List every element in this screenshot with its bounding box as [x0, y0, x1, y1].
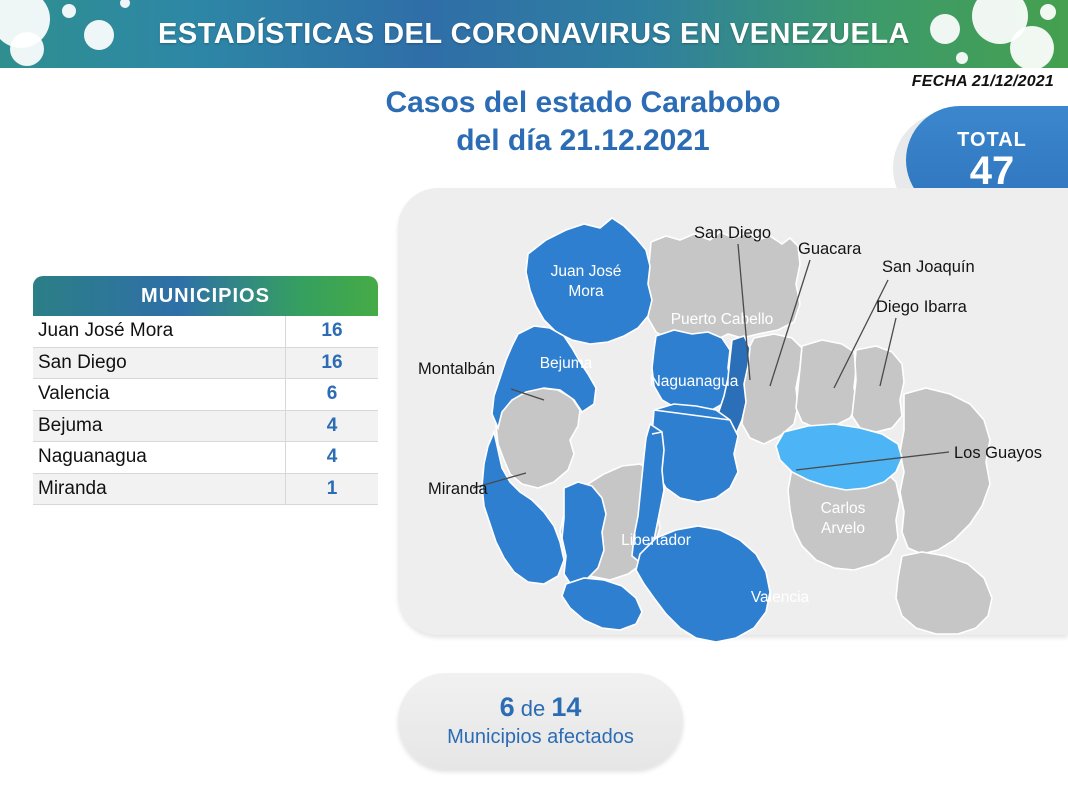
page-title-line2: del día 21.12.2021: [300, 122, 866, 160]
table-row: San Diego16: [33, 348, 378, 380]
map-callout-montalban: Montalbán: [418, 360, 495, 378]
header-banner: ESTADÍSTICAS DEL CORONAVIRUS EN VENEZUEL…: [0, 0, 1068, 68]
map-callout-san-diego: San Diego: [694, 224, 771, 242]
table-cell-count: 16: [285, 348, 378, 379]
table-header: MUNICIPIOS: [33, 276, 378, 316]
map-label-libertador: Libertador: [621, 532, 691, 549]
map-label-juan-jose-mora-l2: Mora: [568, 283, 604, 300]
affected-caption: Municipios afectados: [447, 724, 634, 750]
affected-municipalities-badge: 6 de 14 Municipios afectados: [398, 673, 683, 769]
map-label-carlos-arvelo-l1: Carlos: [821, 500, 866, 517]
header-underline: [0, 68, 1068, 72]
table-row: Valencia6: [33, 379, 378, 411]
page-title-line1: Casos del estado Carabobo: [385, 86, 780, 119]
map-callout-miranda: Miranda: [428, 480, 488, 498]
table-cell-municipality: Bejuma: [33, 415, 285, 437]
table-cell-count: 16: [285, 316, 378, 347]
municipios-table: MUNICIPIOS Juan José Mora16San Diego16Va…: [33, 276, 378, 505]
ratio-connector: de: [515, 696, 552, 721]
date-label: FECHA 21/12/2021: [912, 73, 1054, 91]
table-cell-count: 4: [285, 442, 378, 473]
map-label-bejuma: Bejuma: [540, 355, 593, 372]
map-label-juan-jose-mora-l1: Juan José: [551, 263, 622, 280]
table-cell-count: 6: [285, 379, 378, 410]
map-region-juan-jose-mora: [526, 218, 652, 344]
table-row: Bejuma4: [33, 411, 378, 443]
map-region-naguanagua: [652, 330, 732, 412]
map-callout-diego-ibarra: Diego Ibarra: [876, 298, 968, 316]
map-region-valencia-west: [562, 578, 642, 630]
map-region-east-edge: [900, 388, 990, 554]
map-region-guacara: [742, 334, 802, 444]
table-body: Juan José Mora16San Diego16Valencia6Beju…: [33, 316, 378, 505]
total-municipalities: 14: [551, 692, 581, 722]
map-label-naguanagua: Naguanagua: [650, 373, 739, 390]
table-cell-municipality: Juan José Mora: [33, 320, 285, 342]
map-callout-los-guayos: Los Guayos: [954, 444, 1042, 462]
map-region-san-joaquin: [796, 340, 858, 428]
table-cell-municipality: Naguanagua: [33, 446, 285, 468]
total-value: 47: [970, 150, 1015, 192]
table-row: Juan José Mora16: [33, 316, 378, 348]
page-title: Casos del estado Carabobo del día 21.12.…: [300, 84, 866, 160]
affected-count: 6: [500, 692, 515, 722]
table-cell-municipality: Valencia: [33, 383, 285, 405]
affected-ratio: 6 de 14: [500, 692, 582, 724]
map-label-valencia: Valencia: [751, 589, 810, 606]
table-row: Miranda1: [33, 474, 378, 506]
map-label-puerto-cabello: Puerto Cabello: [671, 311, 774, 328]
map-region-diego-ibarra: [852, 346, 904, 432]
map-callout-guacara: Guacara: [798, 240, 862, 258]
table-row: Naguanagua4: [33, 442, 378, 474]
banner-title: ESTADÍSTICAS DEL CORONAVIRUS EN VENEZUEL…: [0, 0, 1068, 68]
map-label-carlos-arvelo-l2: Arvelo: [821, 520, 865, 537]
table-cell-municipality: Miranda: [33, 478, 285, 500]
map-callout-san-joaquin: San Joaquín: [882, 258, 975, 276]
map-region-southeast: [896, 552, 992, 634]
table-cell-count: 1: [285, 474, 378, 505]
table-cell-municipality: San Diego: [33, 352, 285, 374]
carabobo-map: Juan José Mora Bejuma Puerto Cabello Nag…: [398, 188, 1068, 658]
table-cell-count: 4: [285, 411, 378, 442]
